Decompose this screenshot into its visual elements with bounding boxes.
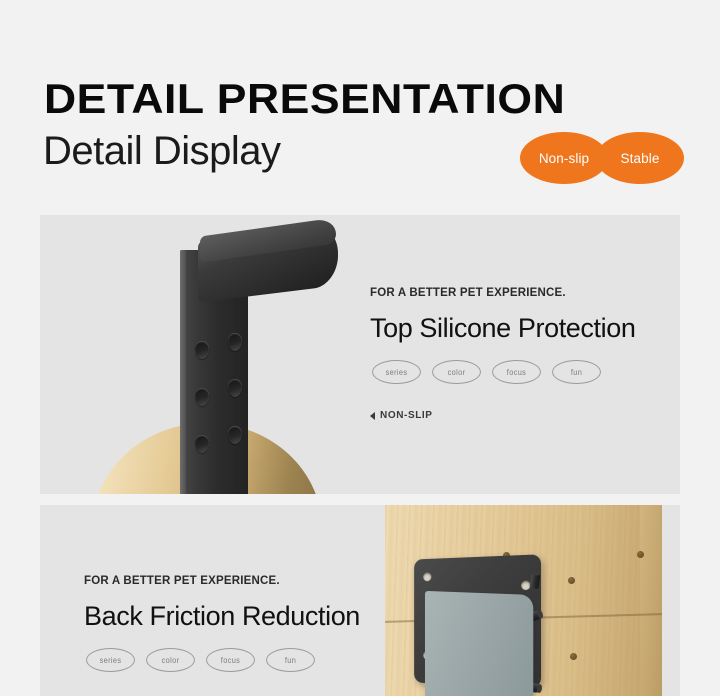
- page-subtitle: Detail Display: [43, 131, 281, 171]
- panel-2-text-block: FOR A BETTER PET EXPERIENCE. Back Fricti…: [84, 575, 360, 672]
- panel-1-headline: Top Silicone Protection: [370, 313, 635, 344]
- triangle-left-icon: [370, 412, 375, 420]
- wood-board-right-edge: [640, 505, 662, 696]
- panel-1-eyebrow: FOR A BETTER PET EXPERIENCE.: [370, 287, 635, 299]
- detail-panel-top-silicone: FOR A BETTER PET EXPERIENCE. Top Silicon…: [40, 215, 680, 494]
- grey-friction-pad-shape: [425, 591, 533, 696]
- page-header: DETAIL PRESENTATION Detail Display Non-s…: [0, 0, 720, 215]
- panel-1-tag-row: series color focus fun: [370, 360, 635, 384]
- board-hole: [568, 577, 575, 584]
- panel-1-marker: NON-SLIP: [370, 410, 635, 421]
- badge-non-slip[interactable]: Non-slip: [520, 132, 608, 184]
- panel-2-headline: Back Friction Reduction: [84, 601, 360, 632]
- tag-focus[interactable]: focus: [206, 648, 255, 672]
- tag-color[interactable]: color: [432, 360, 481, 384]
- board-hole: [637, 551, 644, 558]
- panel-1-marker-label: NON-SLIP: [380, 410, 433, 421]
- badge-stable[interactable]: Stable: [596, 132, 684, 184]
- page-title: DETAIL PRESENTATION: [44, 78, 565, 120]
- detail-panel-back-friction: FOR A BETTER PET EXPERIENCE. Back Fricti…: [40, 505, 680, 696]
- tag-fun[interactable]: fun: [552, 360, 601, 384]
- board-hole: [570, 653, 577, 660]
- badge-group: Non-slip Stable: [520, 130, 684, 186]
- tag-fun[interactable]: fun: [266, 648, 315, 672]
- tag-series[interactable]: series: [372, 360, 421, 384]
- panel-1-text-block: FOR A BETTER PET EXPERIENCE. Top Silicon…: [370, 287, 635, 421]
- pad-clip: [423, 505, 543, 696]
- post-highlight-edge: [180, 250, 186, 494]
- tag-series[interactable]: series: [86, 648, 135, 672]
- panel-2-eyebrow: FOR A BETTER PET EXPERIENCE.: [84, 575, 360, 587]
- tag-color[interactable]: color: [146, 648, 195, 672]
- tag-focus[interactable]: focus: [492, 360, 541, 384]
- panel-2-tag-row: series color focus fun: [84, 648, 360, 672]
